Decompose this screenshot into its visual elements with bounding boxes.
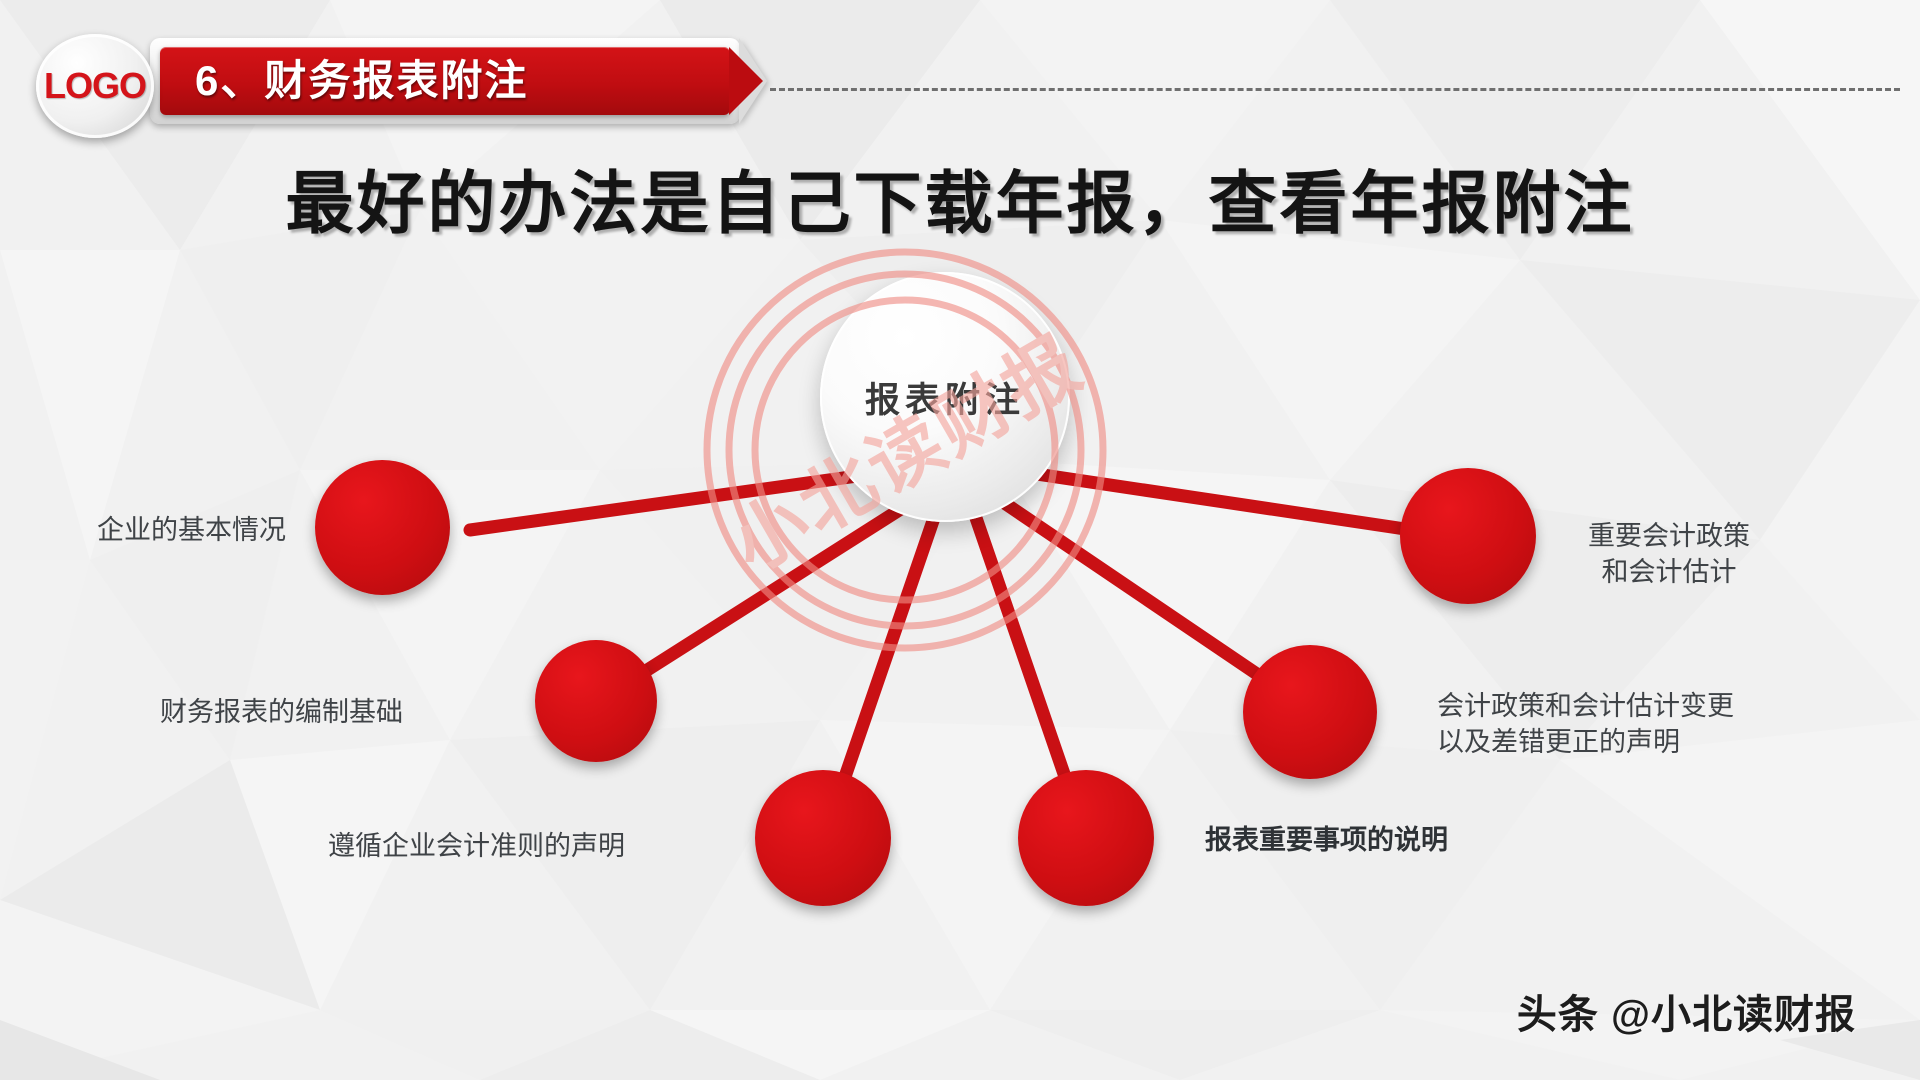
node-label-6: 重要会计政策 和会计估计 bbox=[1588, 518, 1750, 590]
slide-canvas: 6、财务报表附注 LOGO 最好的办法是自己下载年报，查看年报附注 报表附注 bbox=[0, 0, 1920, 1080]
node-circle-3[interactable] bbox=[755, 770, 891, 906]
node-label-2: 财务报表的编制基础 bbox=[160, 694, 403, 730]
node-label-3: 遵循企业会计准则的声明 bbox=[328, 828, 625, 864]
hub-node-label: 报表附注 bbox=[865, 372, 1025, 423]
node-label-5: 会计政策和会计估计变更 以及差错更正的声明 bbox=[1437, 688, 1734, 760]
node-label-1: 企业的基本情况 bbox=[97, 512, 286, 548]
node-circle-5[interactable] bbox=[1243, 645, 1377, 779]
node-circle-6[interactable] bbox=[1400, 468, 1536, 604]
node-circle-4[interactable] bbox=[1018, 770, 1154, 906]
hub-node[interactable]: 报表附注 bbox=[820, 272, 1070, 522]
footer-attribution: 头条 @小北读财报 bbox=[1517, 982, 1856, 1040]
node-circle-2[interactable] bbox=[535, 640, 657, 762]
hub-and-spoke-diagram: 报表附注 小北读财报 企业的基本情况 财务报表的编制基础 遵循企业会计准则的声明… bbox=[0, 0, 1920, 1080]
node-circle-1[interactable] bbox=[315, 460, 450, 595]
node-label-4: 报表重要事项的说明 bbox=[1205, 822, 1448, 858]
